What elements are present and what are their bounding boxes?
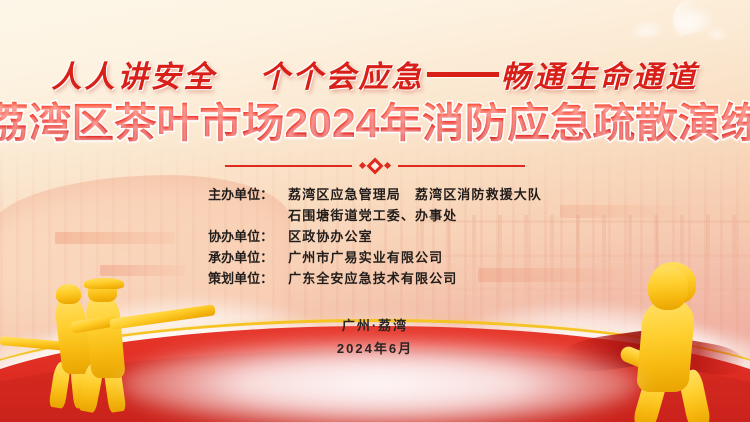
place-and-date: 广州·荔湾 2024年6月 xyxy=(0,315,750,361)
organizer-label: 策划单位： xyxy=(208,268,280,289)
main-title-wrap: 荔湾区茶叶市场2024年消防应急疏散演练 荔湾区茶叶市场2024年消防应急疏散演… xyxy=(1,96,748,147)
organizer-row: 主办单位： 石围塘街道党工委、办事处 xyxy=(208,205,542,226)
slogan-line: 人人讲安全 个个会应急畅通生命通道 xyxy=(0,0,750,96)
place-text: 广州·荔湾 xyxy=(0,315,750,338)
divider-dot-left xyxy=(359,162,366,169)
page-title: 荔湾区茶叶市场2024年消防应急疏散演练 xyxy=(0,100,750,147)
divider-ornament xyxy=(360,160,390,172)
divider-dot-right xyxy=(384,162,391,169)
divider-line-left xyxy=(225,165,352,167)
organizer-label: 承办单位： xyxy=(208,247,280,268)
organizer-row: 策划单位： 广东全安应急技术有限公司 xyxy=(208,268,542,289)
slogan-part-3: 畅通生命通道 xyxy=(501,61,699,94)
organizer-value: 广东全安应急技术有限公司 xyxy=(280,268,457,289)
organizer-list: 主办单位： 荔湾区应急管理局 荔湾区消防救援大队 主办单位： 石围塘街道党工委、… xyxy=(208,184,542,289)
organizer-value: 广州市广易实业有限公司 xyxy=(280,247,443,268)
poster-content: 人人讲安全 个个会应急畅通生命通道 荔湾区茶叶市场2024年消防应急疏散演练 荔… xyxy=(0,0,750,360)
organizer-value: 区政协办公室 xyxy=(280,226,373,247)
poster-canvas: 人人讲安全 个个会应急畅通生命通道 荔湾区茶叶市场2024年消防应急疏散演练 荔… xyxy=(0,0,750,422)
organizer-label: 主办单位： xyxy=(208,184,280,205)
organizer-value: 荔湾区应急管理局 荔湾区消防救援大队 xyxy=(280,184,542,205)
slogan-dash xyxy=(427,72,499,77)
organizer-label: 协办单位： xyxy=(208,226,280,247)
organizer-row: 协办单位： 区政协办公室 xyxy=(208,226,542,247)
slogan-part-2: 个个会应急 xyxy=(260,61,425,94)
organizer-row: 承办单位： 广州市广易实业有限公司 xyxy=(208,247,542,268)
organizer-value: 石围塘街道党工委、办事处 xyxy=(280,205,457,226)
ornament-divider xyxy=(225,160,525,172)
divider-diamond-icon xyxy=(367,157,384,174)
date-text: 2024年6月 xyxy=(0,338,750,361)
divider-line-right xyxy=(398,165,525,167)
slogan-part-1: 人人讲安全 xyxy=(52,61,217,94)
organizer-row: 主办单位： 荔湾区应急管理局 荔湾区消防救援大队 xyxy=(208,184,542,205)
